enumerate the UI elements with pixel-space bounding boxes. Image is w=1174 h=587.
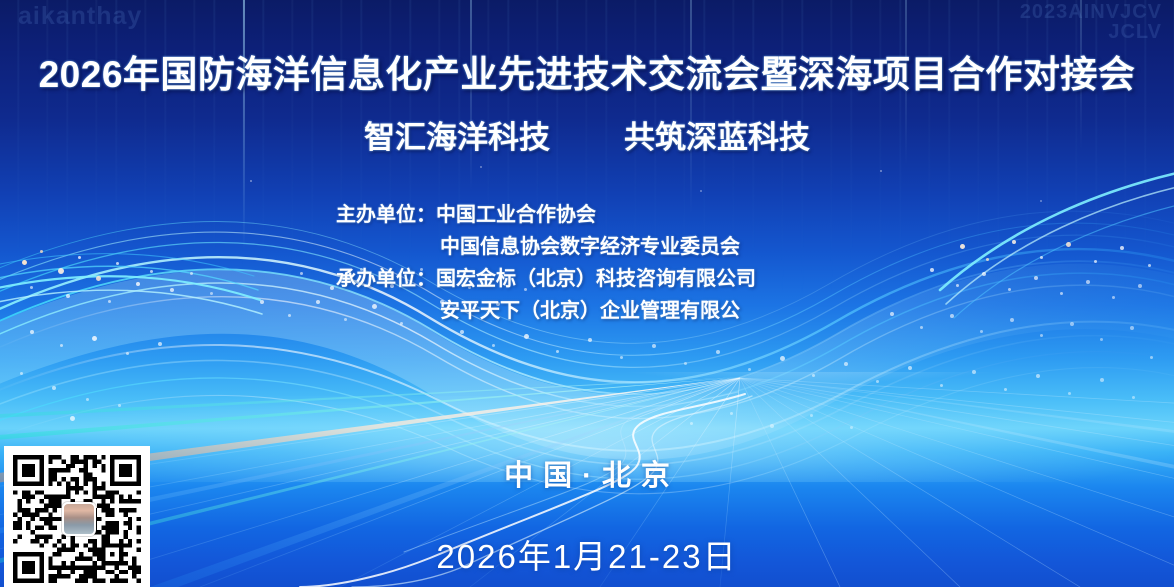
watermark-left: aikanthay: [18, 2, 142, 31]
light-streak: [690, 0, 692, 215]
subtitle-right: 共筑深蓝科技: [624, 120, 810, 155]
organizer-line: 承办单位：国宏金标（北京）科技咨询有限公司: [336, 263, 756, 295]
page-subtitle: 智汇海洋科技共筑深蓝科技: [0, 112, 1174, 157]
organizer-line: 中国信息协会数字经济专业委员会: [336, 231, 756, 263]
organizer-line: 主办单位：中国工业合作协会: [336, 199, 756, 231]
poster-canvas: aikanthay 2023AINVJCV JCLV 2026年国防海洋信息化产…: [0, 0, 1174, 587]
organizer-block: 主办单位：中国工业合作协会 中国信息协会数字经济专业委员会 承办单位：国宏金标（…: [336, 199, 756, 327]
watermark-right-line2: JCLV: [1020, 22, 1162, 42]
event-date: 2026年1月21-23日: [0, 530, 1174, 578]
watermark-right: 2023AINVJCV JCLV: [1020, 2, 1162, 42]
subtitle-left: 智汇海洋科技: [364, 120, 550, 155]
watermark-right-line1: 2023AINVJCV: [1020, 2, 1162, 22]
qr-code[interactable]: [4, 446, 150, 587]
organizer-line: 安平天下（北京）企业管理有限公: [336, 295, 756, 327]
event-location: 中国·北京: [0, 452, 1174, 494]
page-title: 2026年国防海洋信息化产业先进技术交流会暨深海项目合作对接会: [0, 44, 1174, 98]
qr-code-center-logo: [62, 502, 96, 536]
